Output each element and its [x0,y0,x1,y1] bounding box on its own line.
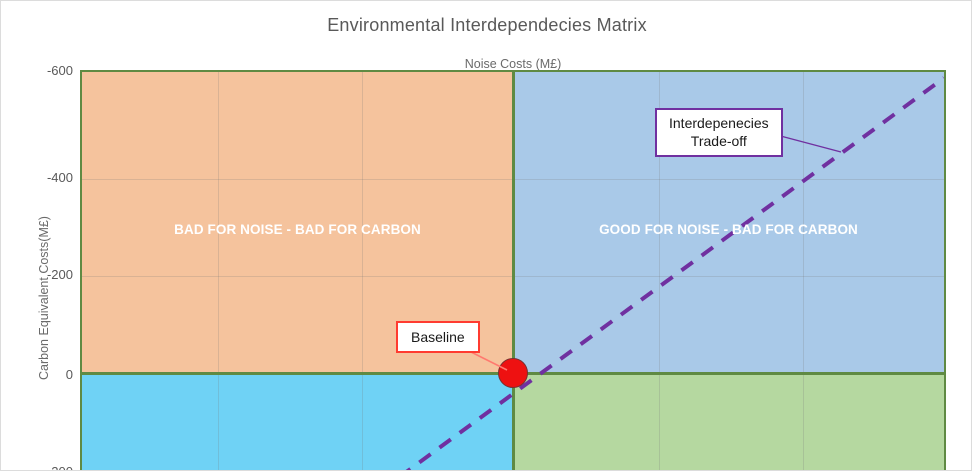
tradeoff-callout-box[interactable]: Interdepenecies Trade-off [655,108,783,157]
y-axis-tick-labels: -600 -400 -200 0 200 [1,1,73,471]
y-tick-label: 0 [9,367,73,382]
gridline-vertical [218,72,219,471]
tradeoff-callout-line2: Trade-off [669,133,769,151]
baseline-data-point[interactable] [498,358,528,388]
gridline-vertical [803,72,804,471]
y-tick-label: -600 [9,63,73,78]
y-tick-label: -200 [9,267,73,282]
chart-canvas: Environmental Interdependecies Matrix No… [0,0,972,471]
y-tick-label: 200 [9,464,73,471]
y-tick-label: -400 [9,170,73,185]
x-axis-title: Noise Costs (M£) [80,57,946,71]
quadrant-good-noise-good-carbon [513,373,944,471]
plot-area: BAD FOR NOISE - BAD FOR CARBON GOOD FOR … [80,70,946,471]
page-title: Environmental Interdependecies Matrix [1,15,972,36]
baseline-callout-box[interactable]: Baseline [396,321,480,353]
quadrant-label-top-left: BAD FOR NOISE - BAD FOR CARBON [82,222,513,237]
quadrant-label-top-right: GOOD FOR NOISE - BAD FOR CARBON [513,222,944,237]
gridline-vertical [362,72,363,471]
y-axis-line [512,72,515,471]
quadrant-bad-noise-good-carbon [82,373,513,471]
baseline-callout-text: Baseline [411,329,465,345]
tradeoff-callout-line1: Interdepenecies [669,115,769,133]
